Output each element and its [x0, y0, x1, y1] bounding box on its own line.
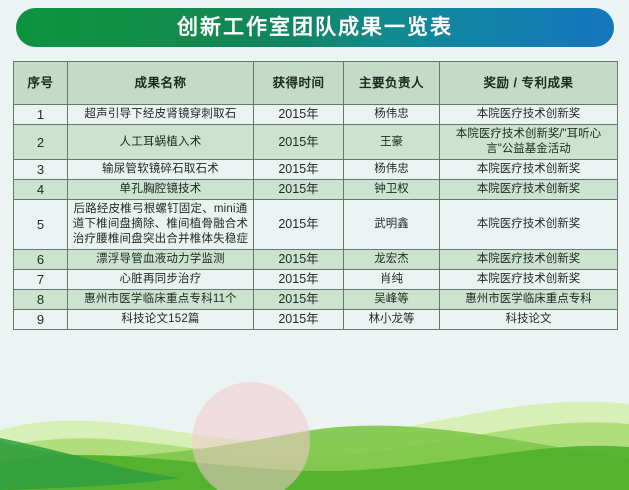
cell-award: 本院医疗技术创新奖 — [440, 105, 618, 125]
cell-name: 输尿管软镜碎石取石术 — [68, 160, 254, 180]
cell-owner: 肖纯 — [344, 270, 440, 290]
table-header: 序号 成果名称 获得时间 主要负责人 奖励 / 专利成果 — [14, 62, 618, 105]
cell-owner: 钟卫权 — [344, 180, 440, 200]
table-header-row: 序号 成果名称 获得时间 主要负责人 奖励 / 专利成果 — [14, 62, 618, 105]
table-row: 3 输尿管软镜碎石取石术 2015年 杨伟忠 本院医疗技术创新奖 — [14, 160, 618, 180]
cell-time: 2015年 — [254, 160, 344, 180]
table-body: 1 超声引导下经皮肾镜穿刺取石 2015年 杨伟忠 本院医疗技术创新奖 2 人工… — [14, 105, 618, 330]
cell-name: 后路经皮椎弓根螺钉固定、mini通道下椎间盘摘除、椎间植骨融合术治疗腰椎间盘突出… — [68, 200, 254, 250]
cell-time: 2015年 — [254, 200, 344, 250]
cell-name: 超声引导下经皮肾镜穿刺取石 — [68, 105, 254, 125]
cell-no: 7 — [14, 270, 68, 290]
cell-award: 本院医疗技术创新奖 — [440, 160, 618, 180]
cell-award: 本院医疗技术创新奖/"耳听心言"公益基金活动 — [440, 125, 618, 160]
table-row: 8 惠州市医学临床重点专科11个 2015年 吴峰等 惠州市医学临床重点专科 — [14, 290, 618, 310]
cell-award: 科技论文 — [440, 310, 618, 330]
cell-name: 人工耳蜗植入术 — [68, 125, 254, 160]
cell-no: 5 — [14, 200, 68, 250]
table-row: 1 超声引导下经皮肾镜穿刺取石 2015年 杨伟忠 本院医疗技术创新奖 — [14, 105, 618, 125]
table-row: 9 科技论文152篇 2015年 林小龙等 科技论文 — [14, 310, 618, 330]
cell-award: 本院医疗技术创新奖 — [440, 250, 618, 270]
column-header-no: 序号 — [14, 62, 68, 105]
accent-circle — [192, 382, 310, 490]
cell-award: 惠州市医学临床重点专科 — [440, 290, 618, 310]
cell-no: 3 — [14, 160, 68, 180]
cell-name: 惠州市医学临床重点专科11个 — [68, 290, 254, 310]
cell-no: 9 — [14, 310, 68, 330]
cell-award: 本院医疗技术创新奖 — [440, 180, 618, 200]
cell-name: 心脏再同步治疗 — [68, 270, 254, 290]
cell-time: 2015年 — [254, 125, 344, 160]
table-row: 5 后路经皮椎弓根螺钉固定、mini通道下椎间盘摘除、椎间植骨融合术治疗腰椎间盘… — [14, 200, 618, 250]
column-header-time: 获得时间 — [254, 62, 344, 105]
cell-name: 科技论文152篇 — [68, 310, 254, 330]
slide-canvas: 创新工作室团队成果一览表 序号 成果名称 获得时间 主要负责人 奖励 / 专利成… — [0, 0, 629, 490]
column-header-award: 奖励 / 专利成果 — [440, 62, 618, 105]
cell-owner: 林小龙等 — [344, 310, 440, 330]
cell-time: 2015年 — [254, 180, 344, 200]
results-table-container: 序号 成果名称 获得时间 主要负责人 奖励 / 专利成果 1 超声引导下经皮肾镜… — [13, 61, 617, 330]
cell-award: 本院医疗技术创新奖 — [440, 270, 618, 290]
results-table: 序号 成果名称 获得时间 主要负责人 奖励 / 专利成果 1 超声引导下经皮肾镜… — [13, 61, 618, 330]
cell-owner: 吴峰等 — [344, 290, 440, 310]
cell-no: 1 — [14, 105, 68, 125]
table-row: 2 人工耳蜗植入术 2015年 王豪 本院医疗技术创新奖/"耳听心言"公益基金活… — [14, 125, 618, 160]
cell-owner: 王豪 — [344, 125, 440, 160]
cell-no: 6 — [14, 250, 68, 270]
table-row: 4 单孔胸腔镜技术 2015年 钟卫权 本院医疗技术创新奖 — [14, 180, 618, 200]
cell-name: 单孔胸腔镜技术 — [68, 180, 254, 200]
page-title: 创新工作室团队成果一览表 — [16, 8, 614, 47]
cell-time: 2015年 — [254, 310, 344, 330]
table-row: 7 心脏再同步治疗 2015年 肖纯 本院医疗技术创新奖 — [14, 270, 618, 290]
table-row: 6 漂浮导管血液动力学监测 2015年 龙宏杰 本院医疗技术创新奖 — [14, 250, 618, 270]
cell-name: 漂浮导管血液动力学监测 — [68, 250, 254, 270]
cell-no: 4 — [14, 180, 68, 200]
cell-time: 2015年 — [254, 105, 344, 125]
cell-no: 2 — [14, 125, 68, 160]
cell-owner: 杨伟忠 — [344, 105, 440, 125]
cell-time: 2015年 — [254, 250, 344, 270]
cell-owner: 武明鑫 — [344, 200, 440, 250]
column-header-owner: 主要负责人 — [344, 62, 440, 105]
cell-no: 8 — [14, 290, 68, 310]
title-banner: 创新工作室团队成果一览表 — [16, 8, 614, 47]
cell-award: 本院医疗技术创新奖 — [440, 200, 618, 250]
cell-owner: 龙宏杰 — [344, 250, 440, 270]
cell-owner: 杨伟忠 — [344, 160, 440, 180]
cell-time: 2015年 — [254, 290, 344, 310]
cell-time: 2015年 — [254, 270, 344, 290]
column-header-name: 成果名称 — [68, 62, 254, 105]
